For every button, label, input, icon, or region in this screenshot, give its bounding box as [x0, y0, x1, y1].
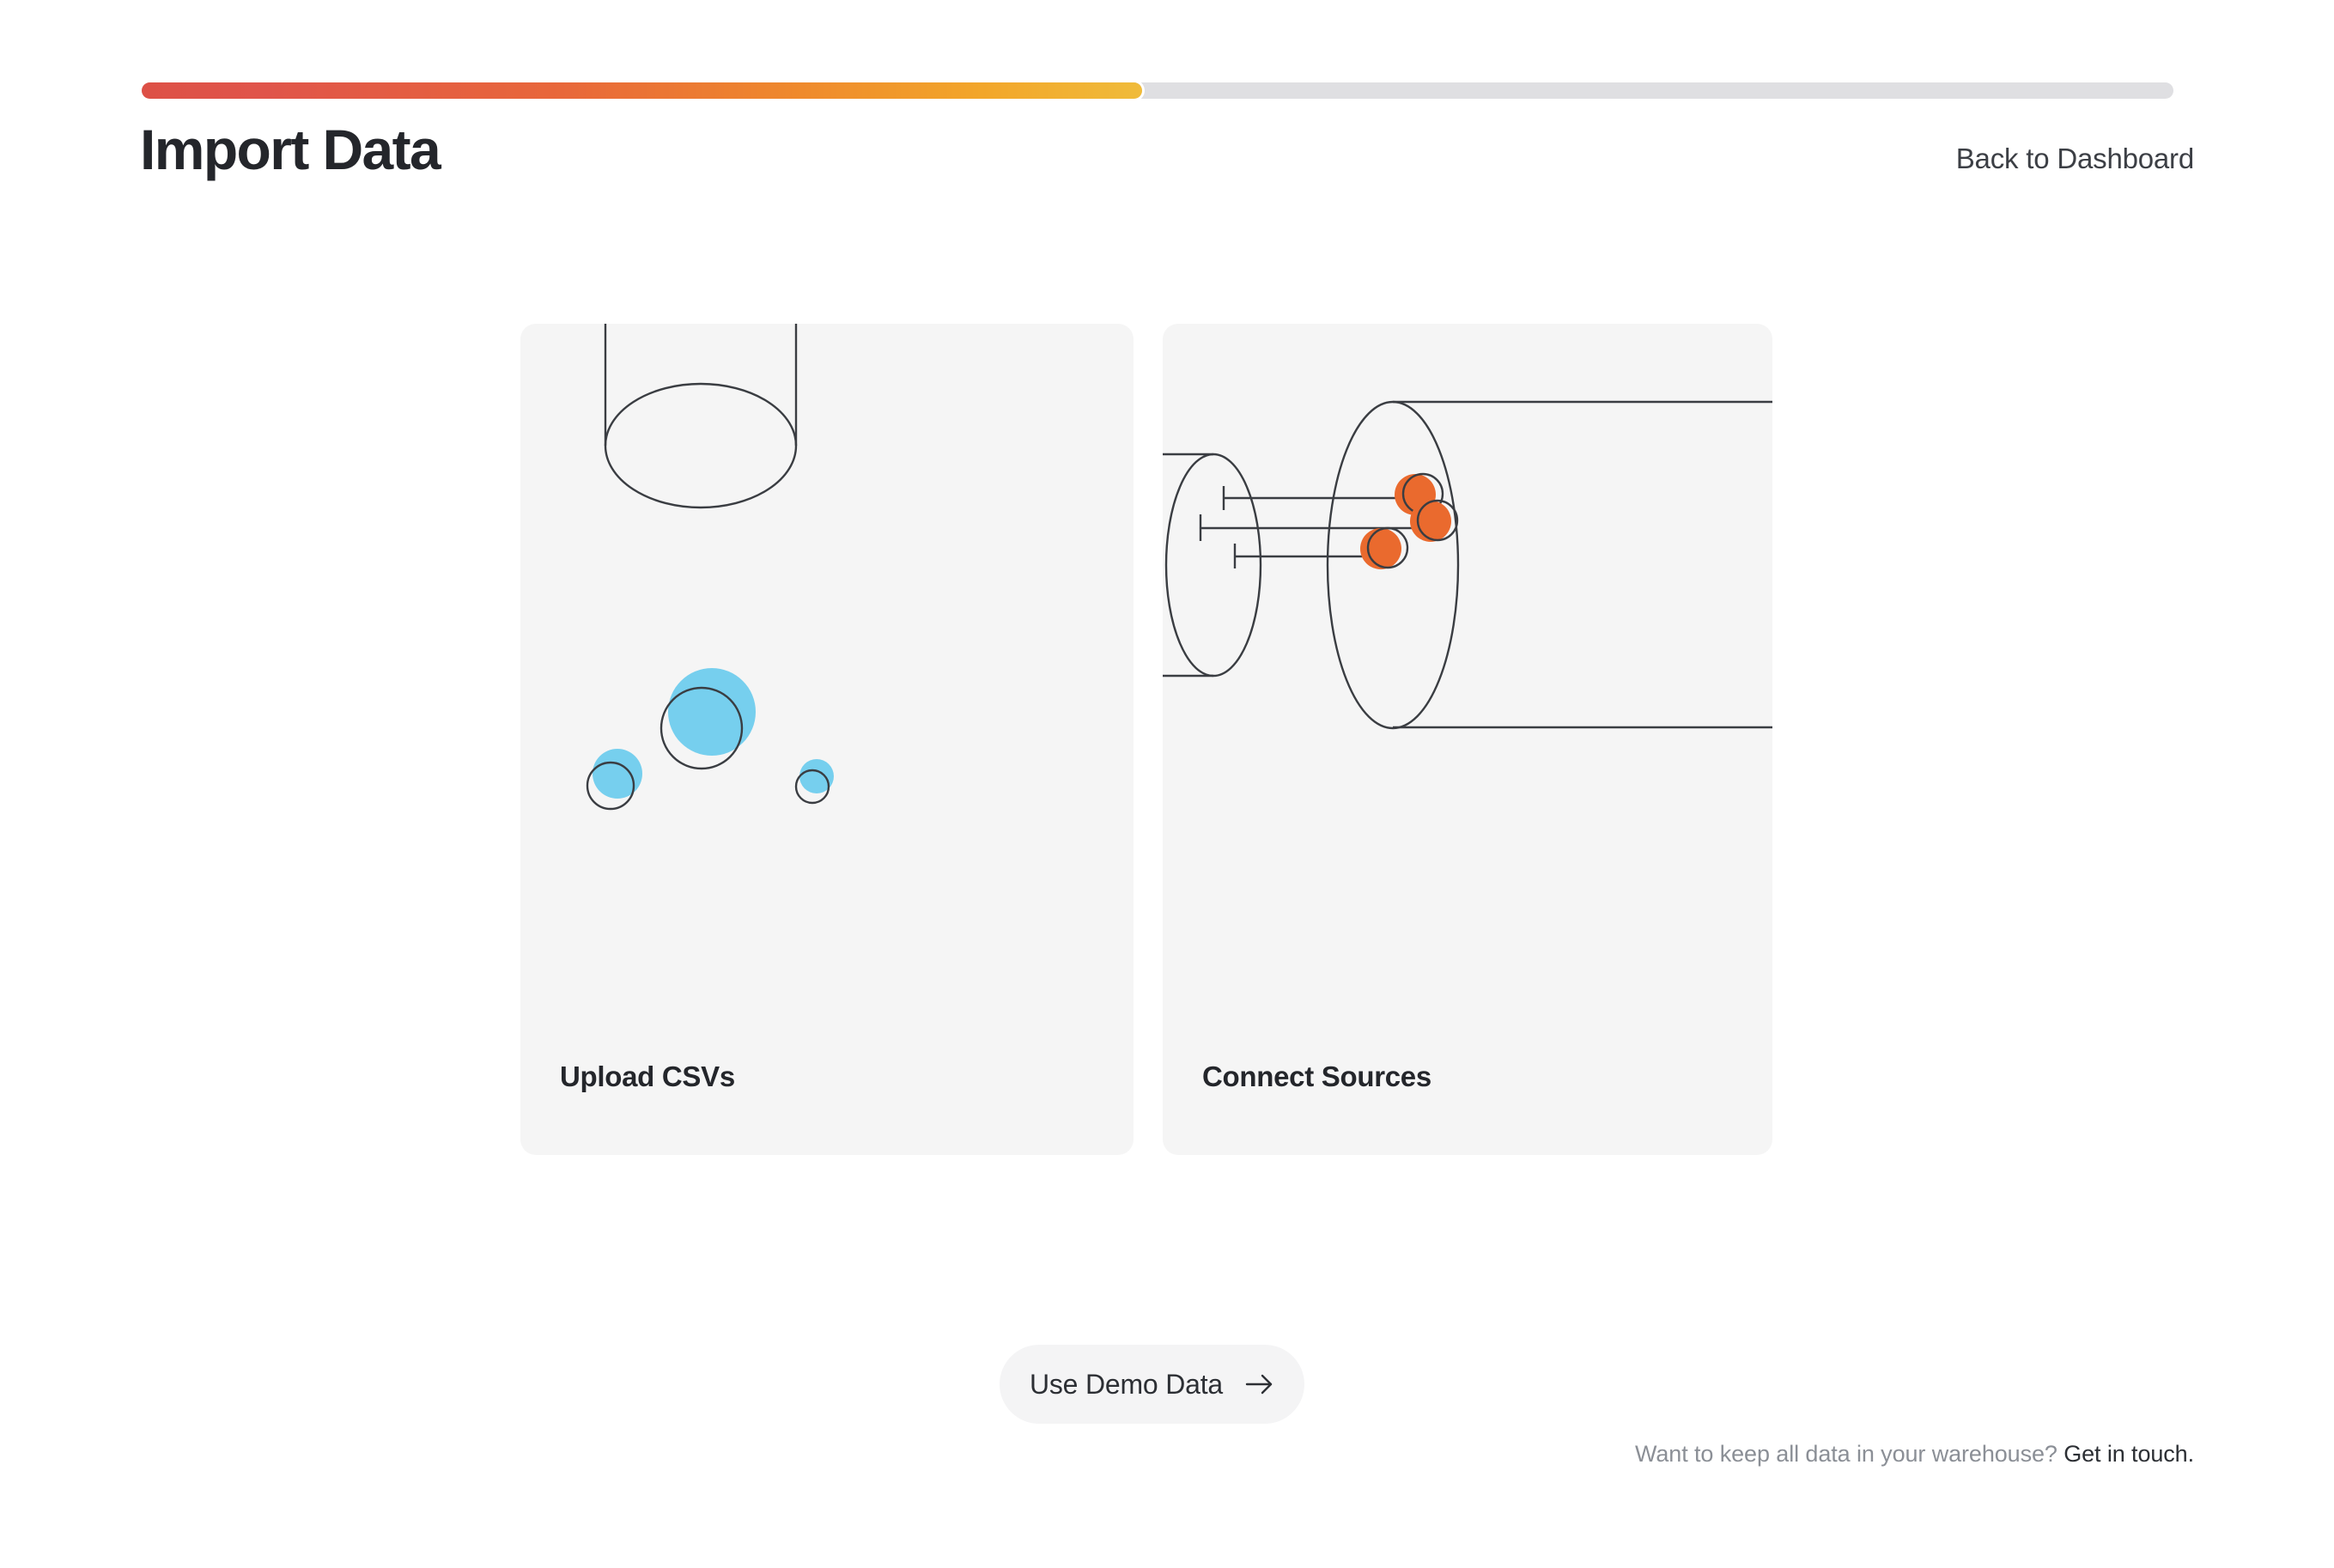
warehouse-footer-note: Want to keep all data in your warehouse?… — [1635, 1441, 2194, 1468]
use-demo-data-label: Use Demo Data — [1030, 1369, 1223, 1401]
card-connect-sources[interactable]: Connect Sources — [1163, 324, 1772, 1155]
page-title: Import Data — [140, 117, 440, 182]
connect-sources-illustration — [1163, 324, 1772, 1155]
progress-bar-fill — [142, 82, 1142, 99]
card-label-upload-csvs: Upload CSVs — [560, 1061, 735, 1093]
use-demo-data-button[interactable]: Use Demo Data — [1000, 1345, 1304, 1424]
arrow-right-icon — [1245, 1372, 1274, 1396]
get-in-touch-link[interactable]: Get in touch. — [2064, 1441, 2194, 1467]
warehouse-footer-text: Want to keep all data in your warehouse? — [1635, 1441, 2057, 1467]
card-upload-csvs[interactable]: Upload CSVs — [520, 324, 1134, 1155]
card-label-connect-sources: Connect Sources — [1202, 1061, 1431, 1093]
back-to-dashboard-link[interactable]: Back to Dashboard — [1956, 143, 2194, 175]
import-data-page: Import Data Back to Dashboard — [0, 0, 2334, 1568]
upload-csvs-illustration — [520, 324, 1134, 1155]
